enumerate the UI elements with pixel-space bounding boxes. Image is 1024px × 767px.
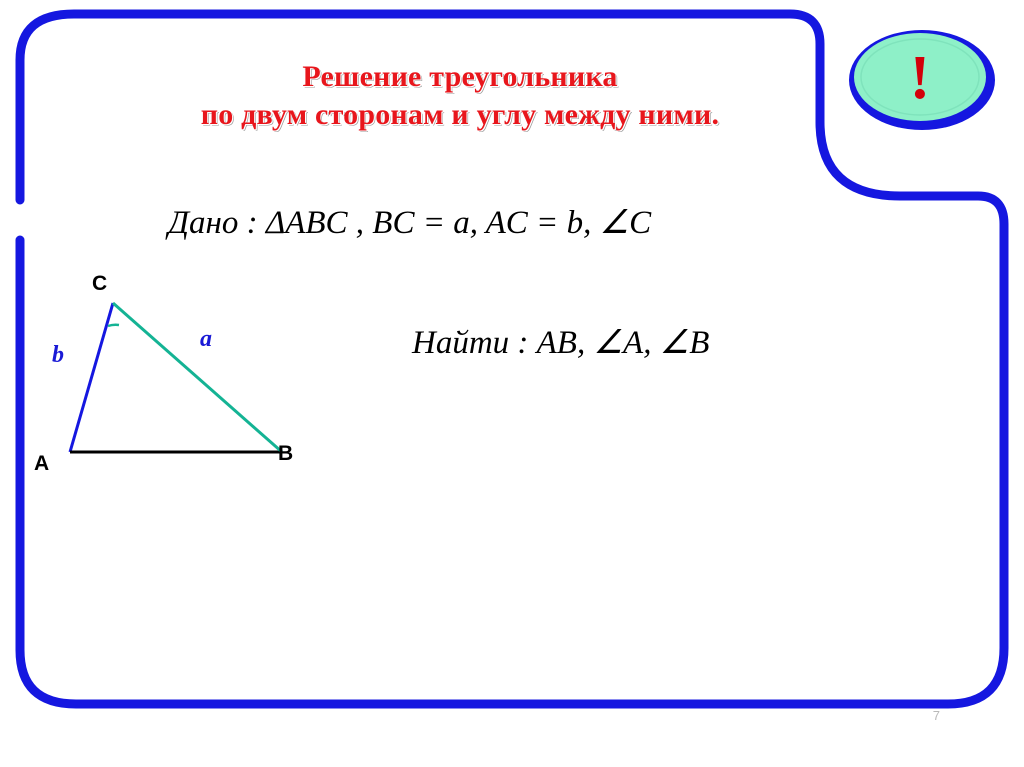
find-statement: Найти : AB, ∠A, ∠B xyxy=(412,322,709,362)
side-label-b: b xyxy=(52,342,64,369)
angle-arc-c xyxy=(108,325,119,326)
given-statement: Дано : ΔABC , BC = a, AC = b, ∠C xyxy=(168,202,651,242)
side-label-a: a xyxy=(200,326,212,353)
slide-number: 7 xyxy=(933,708,940,723)
title-line-2: по двум сторонам и углу между ними. xyxy=(120,96,800,134)
vertex-label-b: B xyxy=(278,442,293,466)
triangle-figure: C A B b a xyxy=(20,270,360,500)
vertex-label-c: C xyxy=(92,272,107,296)
segment-ac xyxy=(70,303,113,452)
exclamation-badge: ! xyxy=(845,22,1000,134)
title-line-1: Решение треугольника xyxy=(120,58,800,96)
badge-glyph: ! xyxy=(910,44,931,112)
vertex-label-a: A xyxy=(34,452,49,476)
triangle-svg xyxy=(20,270,360,500)
segment-cb xyxy=(113,303,282,452)
page-title: Решение треугольника по двум сторонам и … xyxy=(120,58,800,135)
slide-canvas: ! Решение треугольника по двум сторонам … xyxy=(0,0,1024,767)
